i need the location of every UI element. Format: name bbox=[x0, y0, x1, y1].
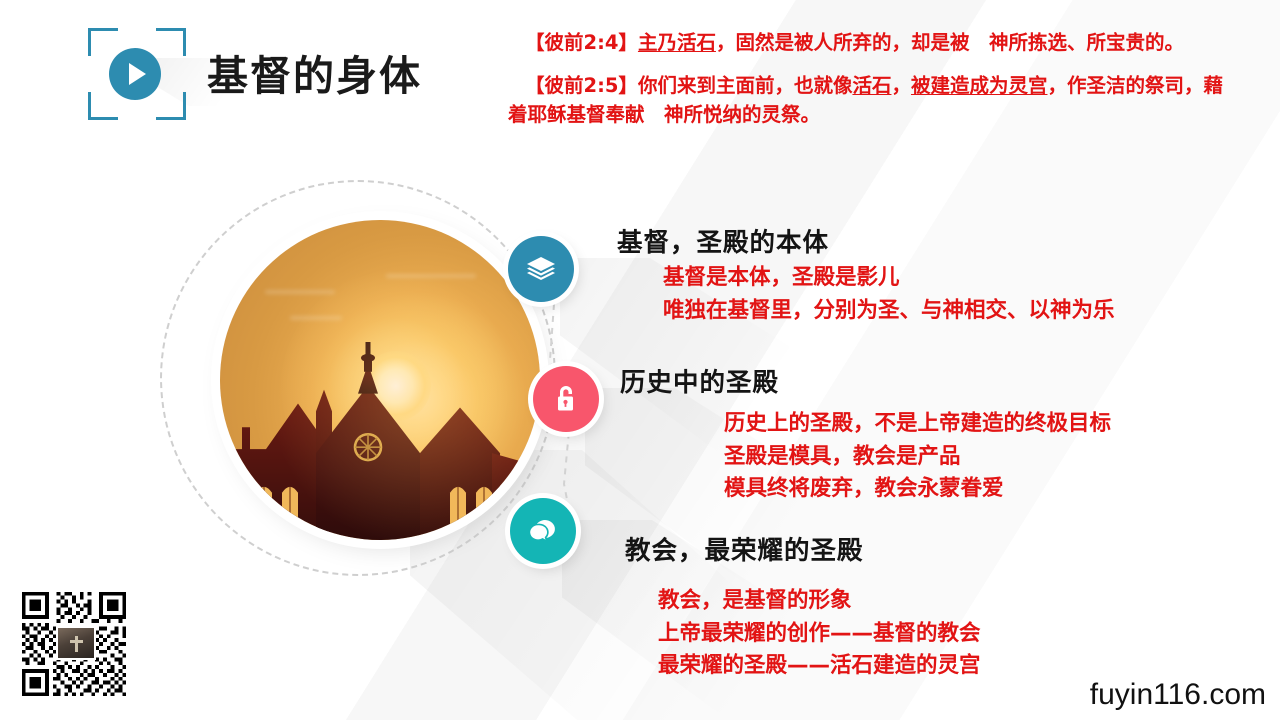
section-2-line-2: 圣殿是模具，教会是产品 bbox=[724, 441, 1111, 474]
church-sunset-photo bbox=[220, 220, 540, 540]
unlock-padlock-icon[interactable] bbox=[533, 366, 599, 432]
qr-code[interactable] bbox=[18, 588, 130, 700]
verse-2-underlined-1: 活石 bbox=[852, 74, 891, 97]
speech-bubbles-icon[interactable] bbox=[510, 498, 576, 564]
section-2-line-1: 历史上的圣殿，不是上帝建造的终极目标 bbox=[724, 408, 1111, 441]
scripture-verse-2: 【彼前2:5】你们来到主面前，也就像活石，被建造成为灵宫，作圣洁的祭司，藉着耶稣… bbox=[508, 71, 1238, 130]
site-watermark: fuyin116.com bbox=[1090, 678, 1266, 712]
section-1-line-2: 唯独在基督里，分别为圣、与神相交、以神为乐 bbox=[663, 295, 1115, 328]
section-3-line-3: 最荣耀的圣殿——活石建造的灵宫 bbox=[658, 650, 981, 683]
verse-2-underlined-2: 被建造成为灵宫 bbox=[911, 74, 1048, 97]
qr-center-logo bbox=[56, 626, 96, 660]
section-1-line-1: 基督是本体，圣殿是影儿 bbox=[663, 262, 1115, 295]
verse-2-part-2: ， bbox=[891, 74, 911, 97]
section-3-line-1: 教会，是基督的形象 bbox=[658, 585, 981, 618]
logo bbox=[88, 28, 186, 120]
scripture-block: 【彼前2:4】主乃活石，固然是被人所弃的，却是被 神所拣选、所宝贵的。 【彼前2… bbox=[508, 28, 1238, 130]
verse-2-ref: 【彼前2:5】 bbox=[525, 74, 638, 97]
section-3-heading: 教会，最荣耀的圣殿 bbox=[625, 530, 864, 567]
section-2-lines: 历史上的圣殿，不是上帝建造的终极目标 圣殿是模具，教会是产品 模具终将废弃，教会… bbox=[724, 408, 1111, 506]
section-2-heading: 历史中的圣殿 bbox=[620, 362, 779, 399]
scripture-verse-1: 【彼前2:4】主乃活石，固然是被人所弃的，却是被 神所拣选、所宝贵的。 bbox=[508, 28, 1238, 58]
page-title: 基督的身体 bbox=[207, 42, 422, 102]
layers-stack-glyph bbox=[525, 253, 557, 285]
verse-1-rest: ，固然是被人所弃的，却是被 神所拣选、所宝贵的。 bbox=[716, 31, 1184, 54]
section-2-line-3: 模具终将废弃，教会永蒙眷爱 bbox=[724, 473, 1111, 506]
play-triangle-icon bbox=[129, 63, 146, 85]
layers-stack-icon[interactable] bbox=[508, 236, 574, 302]
unlock-padlock-glyph bbox=[551, 382, 581, 416]
slide: 基督的身体 【彼前2:4】主乃活石，固然是被人所弃的，却是被 神所拣选、所宝贵的… bbox=[0, 0, 1280, 720]
section-1-heading: 基督，圣殿的本体 bbox=[617, 222, 829, 259]
verse-1-underlined-1: 主乃活石 bbox=[638, 31, 716, 54]
section-3-lines: 教会，是基督的形象 上帝最荣耀的创作——基督的教会 最荣耀的圣殿——活石建造的灵… bbox=[658, 585, 981, 683]
section-3-line-2: 上帝最荣耀的创作——基督的教会 bbox=[658, 618, 981, 651]
section-1-lines: 基督是本体，圣殿是影儿 唯独在基督里，分别为圣、与神相交、以神为乐 bbox=[663, 262, 1115, 327]
verse-1-ref: 【彼前2:4】 bbox=[525, 31, 638, 54]
warm-light-overlay bbox=[220, 220, 540, 540]
play-button-icon[interactable] bbox=[109, 48, 161, 100]
speech-bubbles-glyph bbox=[526, 515, 560, 547]
verse-2-part-1: 你们来到主面前，也就像 bbox=[638, 74, 853, 97]
